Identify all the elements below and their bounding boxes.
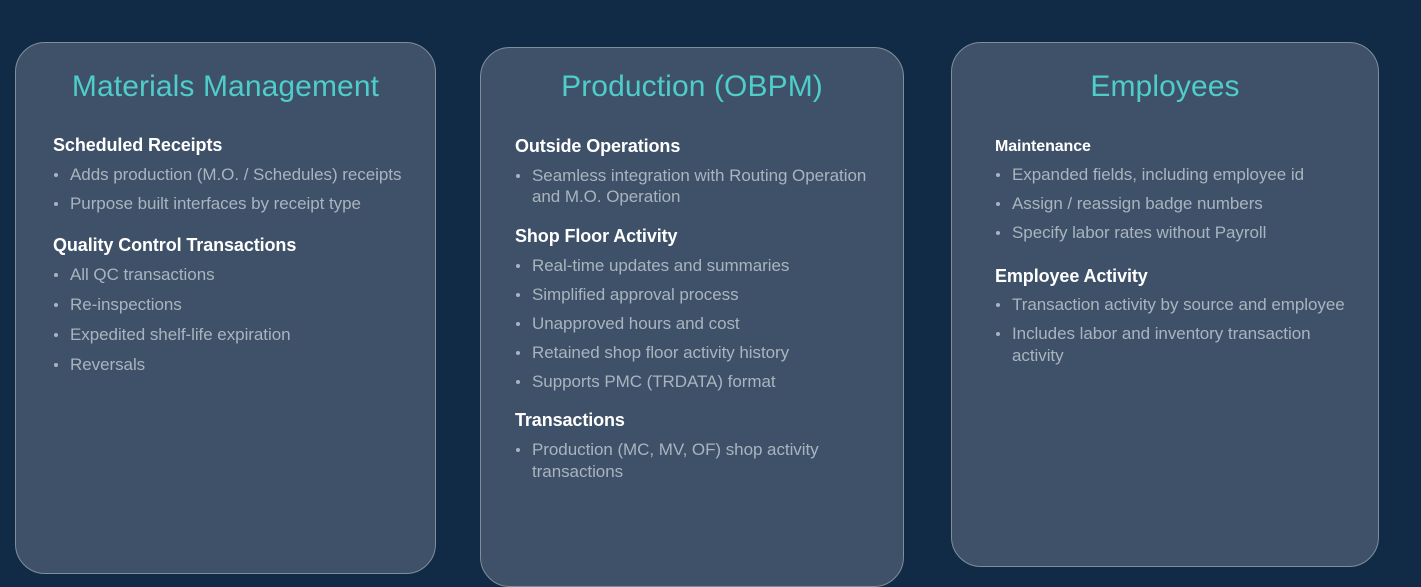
bullet-list: Transaction activity by source and emplo… [995,294,1358,367]
list-item: Re-inspections [53,294,413,316]
group-quality-control-transactions: Quality Control Transactions All QC tran… [53,234,413,375]
group-shop-floor-activity: Shop Floor Activity Real-time updates an… [515,225,885,392]
group-maintenance: Maintenance Expanded fields, including e… [995,137,1358,244]
group-heading: Transactions [515,409,885,432]
card-body: Scheduled Receipts Adds production (M.O.… [16,134,435,376]
bullet-list: Production (MC, MV, OF) shop activity tr… [515,439,885,483]
list-item: Simplified approval process [515,284,885,306]
group-employee-activity: Employee Activity Transaction activity b… [995,265,1358,367]
bullet-list: All QC transactions Re-inspections Exped… [53,264,413,376]
list-item: Reversals [53,354,413,376]
list-item: Specify labor rates without Payroll [995,222,1358,244]
list-item: Retained shop floor activity history [515,342,885,364]
group-heading: Scheduled Receipts [53,134,413,157]
list-item: Production (MC, MV, OF) shop activity tr… [515,439,885,483]
group-heading: Maintenance [995,137,1358,157]
group-heading: Quality Control Transactions [53,234,413,257]
list-item: Real-time updates and summaries [515,255,885,277]
group-outside-operations: Outside Operations Seamless integration … [515,135,885,208]
card-body: Maintenance Expanded fields, including e… [952,137,1378,367]
card-title: Materials Management [16,72,435,102]
card-employees: Employees Maintenance Expanded fields, i… [951,42,1379,567]
list-item: Assign / reassign badge numbers [995,193,1358,215]
list-item: Expedited shelf-life expiration [53,324,413,346]
group-transactions: Transactions Production (MC, MV, OF) sho… [515,409,885,482]
list-item: Transaction activity by source and emplo… [995,294,1358,316]
group-heading: Outside Operations [515,135,885,158]
bullet-list: Real-time updates and summaries Simplifi… [515,255,885,393]
bullet-list: Expanded fields, including employee id A… [995,164,1358,244]
list-item: All QC transactions [53,264,413,286]
list-item: Unapproved hours and cost [515,313,885,335]
list-item: Includes labor and inventory transaction… [995,323,1358,367]
list-item: Expanded fields, including employee id [995,164,1358,186]
card-body: Outside Operations Seamless integration … [481,135,903,483]
list-item: Supports PMC (TRDATA) format [515,371,885,393]
card-materials-management: Materials Management Scheduled Receipts … [15,42,436,574]
card-title: Production (OBPM) [481,72,903,102]
list-item: Adds production (M.O. / Schedules) recei… [53,164,413,186]
bullet-list: Seamless integration with Routing Operat… [515,165,885,209]
card-title: Employees [952,72,1378,102]
group-heading: Shop Floor Activity [515,225,885,248]
bullet-list: Adds production (M.O. / Schedules) recei… [53,164,413,216]
group-heading: Employee Activity [995,265,1358,288]
slide-canvas: Materials Management Scheduled Receipts … [0,0,1421,587]
list-item: Purpose built interfaces by receipt type [53,193,413,215]
group-scheduled-receipts: Scheduled Receipts Adds production (M.O.… [53,134,413,215]
list-item: Seamless integration with Routing Operat… [515,165,885,209]
card-production-obpm: Production (OBPM) Outside Operations Sea… [480,47,904,587]
